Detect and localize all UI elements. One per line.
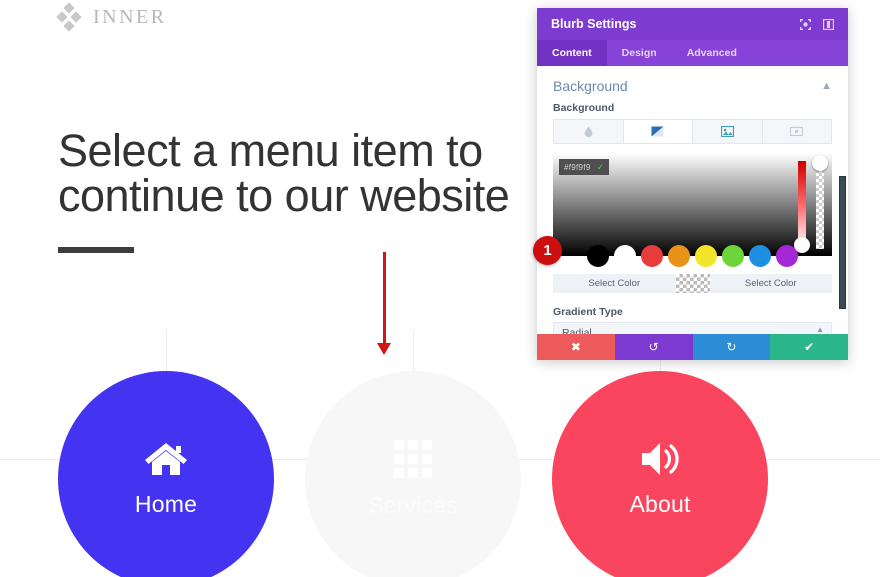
modal-titlebar: Blurb Settings: [537, 8, 848, 40]
save-button[interactable]: ✔: [770, 334, 848, 360]
expand-icon[interactable]: [795, 14, 815, 34]
alpha-slider[interactable]: [816, 161, 824, 249]
gradient-color-picker[interactable]: #f9f9f9 ✓: [553, 153, 832, 256]
menu-item-about[interactable]: About: [552, 371, 768, 577]
transparency-swatch[interactable]: [676, 274, 710, 293]
chevron-down-icon: ▲▼: [816, 326, 824, 335]
bg-tab-image[interactable]: [693, 120, 763, 143]
saturation-brightness-area[interactable]: #f9f9f9 ✓: [553, 153, 832, 256]
field-gradient-type: Gradient Type Radial ▲▼: [537, 293, 848, 334]
field-label: Gradient Type: [553, 306, 832, 318]
step-badge-1: 1: [533, 236, 562, 265]
down-arrow: [383, 252, 386, 344]
grid-icon: [393, 439, 433, 484]
gradient-stop-row: Select Color Select Color: [553, 274, 832, 293]
blurb-settings-modal: Blurb Settings Content Design: [537, 8, 848, 360]
gradient-type-select[interactable]: Radial ▲▼: [553, 322, 832, 334]
background-type-tabs: [553, 119, 832, 144]
alpha-slider-knob[interactable]: [812, 155, 828, 171]
swatch-red[interactable]: [641, 245, 663, 267]
tab-advanced[interactable]: Advanced: [672, 40, 752, 66]
modal-body: Background ▲ Background: [537, 66, 848, 334]
bg-tab-video[interactable]: [763, 120, 832, 143]
modal-action-bar: ✖ ↺ ↻ ✔: [537, 334, 848, 360]
house-icon: [144, 440, 188, 483]
hue-slider[interactable]: [798, 161, 806, 249]
swatch-green[interactable]: [722, 245, 744, 267]
dock-panel-icon[interactable]: [818, 14, 838, 34]
tab-design[interactable]: Design: [607, 40, 672, 66]
undo-button[interactable]: ↺: [615, 334, 693, 360]
chevron-up-icon[interactable]: ▲: [821, 80, 832, 92]
select-color-left[interactable]: Select Color: [553, 274, 676, 293]
menu-item-label: About: [629, 491, 690, 518]
hex-value-box[interactable]: #f9f9f9 ✓: [559, 159, 609, 175]
page-root: INNER Select a menu item to continue to …: [0, 0, 880, 577]
swatch-purple[interactable]: [776, 245, 798, 267]
speaker-icon: [638, 440, 682, 483]
picker-sliders: [798, 161, 824, 249]
check-icon[interactable]: ✓: [597, 162, 605, 173]
modal-scrollbar[interactable]: [839, 176, 846, 309]
swatch-yellow[interactable]: [695, 245, 717, 267]
background-field-label: Background: [537, 102, 848, 119]
hex-value: #f9f9f9: [564, 163, 591, 172]
modal-title: Blurb Settings: [551, 17, 792, 31]
menu-item-services[interactable]: Services: [305, 371, 521, 577]
tab-content[interactable]: Content: [537, 40, 607, 66]
bg-tab-gradient[interactable]: [624, 120, 694, 143]
swatch-blue[interactable]: [749, 245, 771, 267]
redo-button[interactable]: ↻: [693, 334, 771, 360]
menu-item-label: Home: [135, 491, 197, 518]
menu-item-label: Services: [368, 492, 458, 519]
gradient-type-value: Radial: [562, 327, 592, 335]
modal-tabs: Content Design Advanced: [537, 40, 848, 66]
bg-tab-color[interactable]: [554, 120, 624, 143]
color-swatches: [553, 245, 832, 267]
swatch-white[interactable]: [614, 245, 636, 267]
select-color-right[interactable]: Select Color: [710, 274, 833, 293]
background-section-header[interactable]: Background ▲: [537, 66, 848, 102]
swatch-orange[interactable]: [668, 245, 690, 267]
section-title: Background: [553, 78, 628, 94]
cancel-button[interactable]: ✖: [537, 334, 615, 360]
swatch-black[interactable]: [587, 245, 609, 267]
menu-item-home[interactable]: Home: [58, 371, 274, 577]
